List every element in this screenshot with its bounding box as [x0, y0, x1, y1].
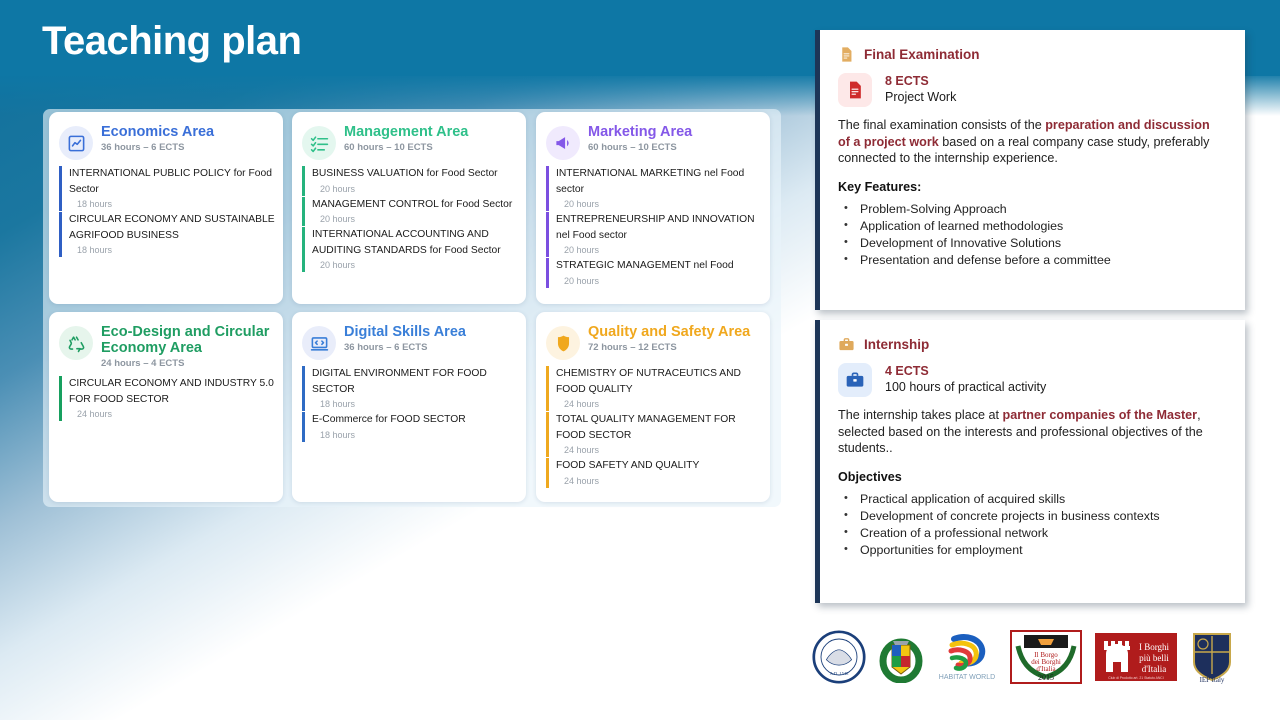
course-name: CHEMISTRY OF NUTRACEUTICS AND FOOD QUALI… — [556, 366, 762, 397]
course-hours: 20 hours — [556, 274, 762, 288]
area-title: Management Area — [344, 124, 468, 140]
course-item: MANAGEMENT CONTROL for Food Sector20 hou… — [302, 197, 518, 227]
area-subtitle: 60 hours – 10 ECTS — [588, 141, 692, 154]
panel-title: Internship — [864, 337, 929, 352]
section-heading: Key Features: — [838, 180, 1223, 194]
paragraph-highlight: partner companies of the Master — [1003, 408, 1198, 422]
panel-title: Final Examination — [864, 47, 980, 62]
course-item: BUSINESS VALUATION for Food Sector20 hou… — [302, 166, 518, 196]
course-hours: 24 hours — [556, 397, 762, 411]
internship-panel: Internship4 ECTS100 hours of practical a… — [815, 320, 1245, 603]
bullet-item: Problem-Solving Approach — [838, 201, 1223, 218]
area-card-quality-safety[interactable]: Quality and Safety Area72 hours – 12 ECT… — [536, 312, 770, 502]
area-card-header: Eco-Design and Circular Economy Area24 h… — [49, 312, 283, 372]
area-card-marketing[interactable]: Marketing Area60 hours – 10 ECTSINTERNAT… — [536, 112, 770, 304]
svg-text:I Borghi: I Borghi — [1139, 642, 1170, 652]
area-card-eco-design[interactable]: Eco-Design and Circular Economy Area24 h… — [49, 312, 283, 502]
panel-body: The final examination consists of the pr… — [820, 107, 1245, 269]
course-hours: 24 hours — [556, 443, 762, 457]
area-subtitle: 72 hours – 12 ECTS — [588, 341, 750, 354]
course-name: CIRCULAR ECONOMY AND SUSTAINABLE AGRIFOO… — [69, 212, 275, 243]
document-icon — [838, 46, 855, 63]
bullet-item: Opportunities for employment — [838, 542, 1223, 559]
course-list: CIRCULAR ECONOMY AND INDUSTRY 5.0 FOR FO… — [49, 372, 283, 430]
area-title: Quality and Safety Area — [588, 324, 750, 340]
course-name: INTERNATIONAL MARKETING nel Food sector — [556, 166, 762, 197]
area-card-management[interactable]: Management Area60 hours – 10 ECTSBUSINES… — [292, 112, 526, 304]
paragraph-part-1: The final examination consists of the — [838, 118, 1045, 132]
bullet-list: Practical application of acquired skills… — [838, 491, 1223, 559]
course-hours: 18 hours — [312, 397, 518, 411]
logo-borgo-dei-borghi: Il Borgodei Borghid'Italia2015 — [1010, 629, 1082, 685]
svg-text:A.D. 1548: A.D. 1548 — [830, 671, 850, 676]
course-item: DIGITAL ENVIRONMENT FOR FOOD SECTOR18 ho… — [302, 366, 518, 411]
course-name: STRATEGIC MANAGEMENT nel Food — [556, 258, 762, 274]
bullet-item: Development of concrete projects in busi… — [838, 508, 1223, 525]
area-card-header: Economics Area36 hours – 6 ECTS — [49, 112, 283, 162]
panel-body: The internship takes place at partner co… — [820, 397, 1245, 559]
logo-borghi-piu-belli: I Borghipiù bellid'ItaliaClub di Prodott… — [1094, 629, 1178, 685]
area-card-header: Digital Skills Area36 hours – 6 ECTS — [292, 312, 526, 362]
course-list: CHEMISTRY OF NUTRACEUTICS AND FOOD QUALI… — [536, 362, 770, 497]
course-item: TOTAL QUALITY MANAGEMENT FOR FOOD SECTOR… — [546, 412, 762, 457]
svg-text:d'Italia: d'Italia — [1036, 665, 1056, 673]
course-name: DIGITAL ENVIRONMENT FOR FOOD SECTOR — [312, 366, 518, 397]
course-hours: 18 hours — [69, 243, 275, 257]
section-heading: Objectives — [838, 470, 1223, 484]
area-card-digital-skills[interactable]: Digital Skills Area36 hours – 6 ECTSDIGI… — [292, 312, 526, 502]
course-item: CHEMISTRY OF NUTRACEUTICS AND FOOD QUALI… — [546, 366, 762, 411]
final-examination-panel: Final Examination8 ECTSProject WorkThe f… — [815, 30, 1245, 310]
course-item: CIRCULAR ECONOMY AND INDUSTRY 5.0 FOR FO… — [59, 376, 275, 421]
ects-value: 4 ECTS — [885, 364, 1046, 379]
course-item: INTERNATIONAL ACCOUNTING AND AUDITING ST… — [302, 227, 518, 272]
course-list: BUSINESS VALUATION for Food Sector20 hou… — [292, 162, 526, 281]
course-item: FOOD SAFETY AND QUALITY24 hours — [546, 458, 762, 488]
document-red-icon — [838, 73, 872, 107]
area-subtitle: 36 hours – 6 ECTS — [344, 341, 466, 354]
page-title: Teaching plan — [42, 18, 301, 64]
svg-text:IEP Italy: IEP Italy — [1200, 676, 1225, 684]
logo-comune-crest — [878, 629, 924, 685]
svg-text:più belli: più belli — [1139, 653, 1169, 663]
panel-paragraph: The final examination consists of the pr… — [838, 117, 1223, 167]
area-title: Eco-Design and Circular Economy Area — [101, 324, 273, 356]
ects-value: 8 ECTS — [885, 74, 956, 89]
course-name: E-Commerce for FOOD SECTOR — [312, 412, 518, 428]
ects-description: 100 hours of practical activity — [885, 379, 1046, 396]
logo-unime-seal: A.D. 1548 — [812, 629, 866, 685]
bullet-list: Problem-Solving ApproachApplication of l… — [838, 201, 1223, 269]
svg-text:Club di Prodotto art. 21 Statu: Club di Prodotto art. 21 Statuto ANCI — [1108, 676, 1163, 680]
course-item: CIRCULAR ECONOMY AND SUSTAINABLE AGRIFOO… — [59, 212, 275, 257]
area-title: Marketing Area — [588, 124, 692, 140]
ects-description: Project Work — [885, 89, 956, 106]
course-list: DIGITAL ENVIRONMENT FOR FOOD SECTOR18 ho… — [292, 362, 526, 451]
course-item: INTERNATIONAL PUBLIC POLICY for Food Sec… — [59, 166, 275, 211]
ects-row: 4 ECTS100 hours of practical activity — [820, 353, 1245, 397]
chart-line-icon — [59, 126, 93, 160]
bullet-item: Presentation and defense before a commit… — [838, 252, 1223, 269]
course-item: E-Commerce for FOOD SECTOR18 hours — [302, 412, 518, 442]
area-subtitle: 60 hours – 10 ECTS — [344, 141, 468, 154]
course-name: BUSINESS VALUATION for Food Sector — [312, 166, 518, 182]
course-hours: 20 hours — [312, 258, 518, 272]
bullet-item: Practical application of acquired skills — [838, 491, 1223, 508]
panel-header: Final Examination — [820, 30, 1245, 63]
course-list: INTERNATIONAL PUBLIC POLICY for Food Sec… — [49, 162, 283, 266]
megaphone-icon — [546, 126, 580, 160]
panel-paragraph: The internship takes place at partner co… — [838, 407, 1223, 457]
svg-text:d'Italia: d'Italia — [1142, 664, 1167, 674]
area-card-header: Marketing Area60 hours – 10 ECTS — [536, 112, 770, 162]
course-hours: 20 hours — [312, 182, 518, 196]
panel-header: Internship — [820, 320, 1245, 353]
area-title: Digital Skills Area — [344, 324, 466, 340]
area-subtitle: 36 hours – 6 ECTS — [101, 141, 214, 154]
bullet-item: Development of Innovative Solutions — [838, 235, 1223, 252]
paragraph-part-1: The internship takes place at — [838, 408, 1003, 422]
ects-row: 8 ECTSProject Work — [820, 63, 1245, 107]
shield-icon — [546, 326, 580, 360]
course-name: TOTAL QUALITY MANAGEMENT FOR FOOD SECTOR — [556, 412, 762, 443]
recycle-icon — [59, 326, 93, 360]
course-name: CIRCULAR ECONOMY AND INDUSTRY 5.0 FOR FO… — [69, 376, 275, 407]
course-name: ENTREPRENEURSHIP AND INNOVATION nel Food… — [556, 212, 762, 243]
laptop-code-icon — [302, 326, 336, 360]
bullet-item: Creation of a professional network — [838, 525, 1223, 542]
area-title: Economics Area — [101, 124, 214, 140]
course-name: INTERNATIONAL ACCOUNTING AND AUDITING ST… — [312, 227, 518, 258]
area-subtitle: 24 hours – 4 ECTS — [101, 357, 273, 370]
course-list: INTERNATIONAL MARKETING nel Food sector2… — [536, 162, 770, 297]
logo-iep-italy: IEP Italy — [1190, 629, 1234, 685]
briefcase-blue-icon — [838, 363, 872, 397]
course-name: INTERNATIONAL PUBLIC POLICY for Food Sec… — [69, 166, 275, 197]
course-hours: 24 hours — [556, 474, 762, 488]
course-hours: 20 hours — [556, 243, 762, 257]
course-item: ENTREPRENEURSHIP AND INNOVATION nel Food… — [546, 212, 762, 257]
svg-text:HABITAT WORLD: HABITAT WORLD — [939, 674, 995, 681]
course-hours: 18 hours — [69, 197, 275, 211]
course-name: MANAGEMENT CONTROL for Food Sector — [312, 197, 518, 213]
course-item: STRATEGIC MANAGEMENT nel Food20 hours — [546, 258, 762, 288]
area-card-header: Management Area60 hours – 10 ECTS — [292, 112, 526, 162]
course-name: FOOD SAFETY AND QUALITY — [556, 458, 762, 474]
logo-habitat-world: HABITAT WORLD — [936, 629, 998, 685]
briefcase-icon — [838, 336, 855, 353]
area-card-economics[interactable]: Economics Area36 hours – 6 ECTSINTERNATI… — [49, 112, 283, 304]
area-card-header: Quality and Safety Area72 hours – 12 ECT… — [536, 312, 770, 362]
course-hours: 20 hours — [556, 197, 762, 211]
checklist-icon — [302, 126, 336, 160]
course-hours: 20 hours — [312, 212, 518, 226]
bullet-item: Application of learned methodologies — [838, 218, 1223, 235]
course-hours: 24 hours — [69, 407, 275, 421]
svg-text:2015: 2015 — [1038, 673, 1054, 682]
course-hours: 18 hours — [312, 428, 518, 442]
partner-logos: A.D. 1548HABITAT WORLDIl Borgodei Borghi… — [812, 626, 1252, 688]
course-item: INTERNATIONAL MARKETING nel Food sector2… — [546, 166, 762, 211]
